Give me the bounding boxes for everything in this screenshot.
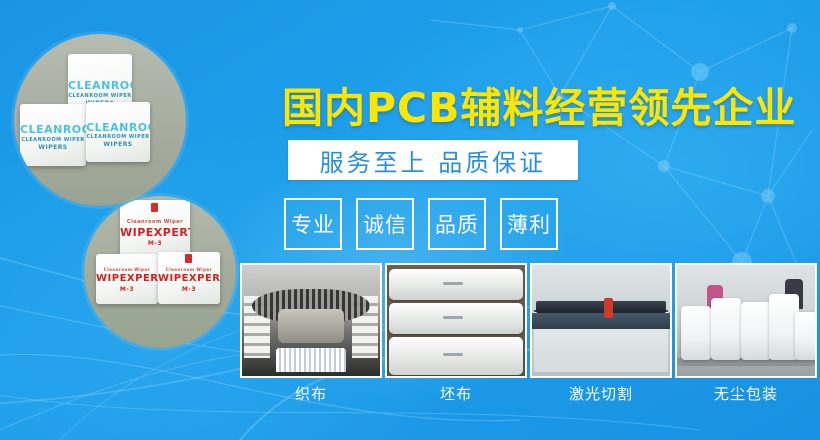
product-cell: 坯布	[385, 263, 527, 408]
feature-tag: 专业	[284, 198, 342, 250]
circle-photo-cleanroom: CLEANROOM CLEANROOM WIPER WIPERS CLEANRO…	[14, 34, 186, 206]
product-label: 激光切割	[530, 378, 672, 408]
feature-tag: 薄利	[500, 198, 558, 250]
product-label: 坯布	[385, 378, 527, 408]
product-label: 织布	[240, 378, 382, 408]
subtitle-bar: 服务至上 品质保证	[288, 140, 578, 180]
feature-tag: 品质	[428, 198, 486, 250]
product-photo-cleanroom-packing	[675, 263, 817, 378]
product-photo-knitting	[240, 263, 382, 378]
circle-photo-wipexperts: Cleanroom Wiper WIPEXPERTS M-3 Cleanroom…	[84, 196, 236, 348]
product-label: 无尘包装	[675, 378, 817, 408]
product-cell: 织布	[240, 263, 382, 408]
feature-tag-label: 专业	[291, 209, 335, 239]
product-photo-strip: 织布 坯布 激光切割	[240, 263, 817, 408]
feature-tag-list: 专业 诚信 品质 薄利	[284, 198, 558, 250]
page-title: 国内PCB辅料经营领先企业	[282, 74, 796, 134]
feature-tag-label: 品质	[435, 209, 479, 239]
product-photo-fabric-rolls	[385, 263, 527, 378]
feature-tag-label: 诚信	[363, 209, 407, 239]
subtitle-text: 服务至上 品质保证	[320, 143, 547, 178]
product-photo-laser-cutter	[530, 263, 672, 378]
feature-tag-label: 薄利	[507, 209, 551, 239]
promo-banner: CLEANROOM CLEANROOM WIPER WIPERS CLEANRO…	[0, 0, 820, 440]
product-cell: 激光切割	[530, 263, 672, 408]
product-cell: 无尘包装	[675, 263, 817, 408]
feature-tag: 诚信	[356, 198, 414, 250]
